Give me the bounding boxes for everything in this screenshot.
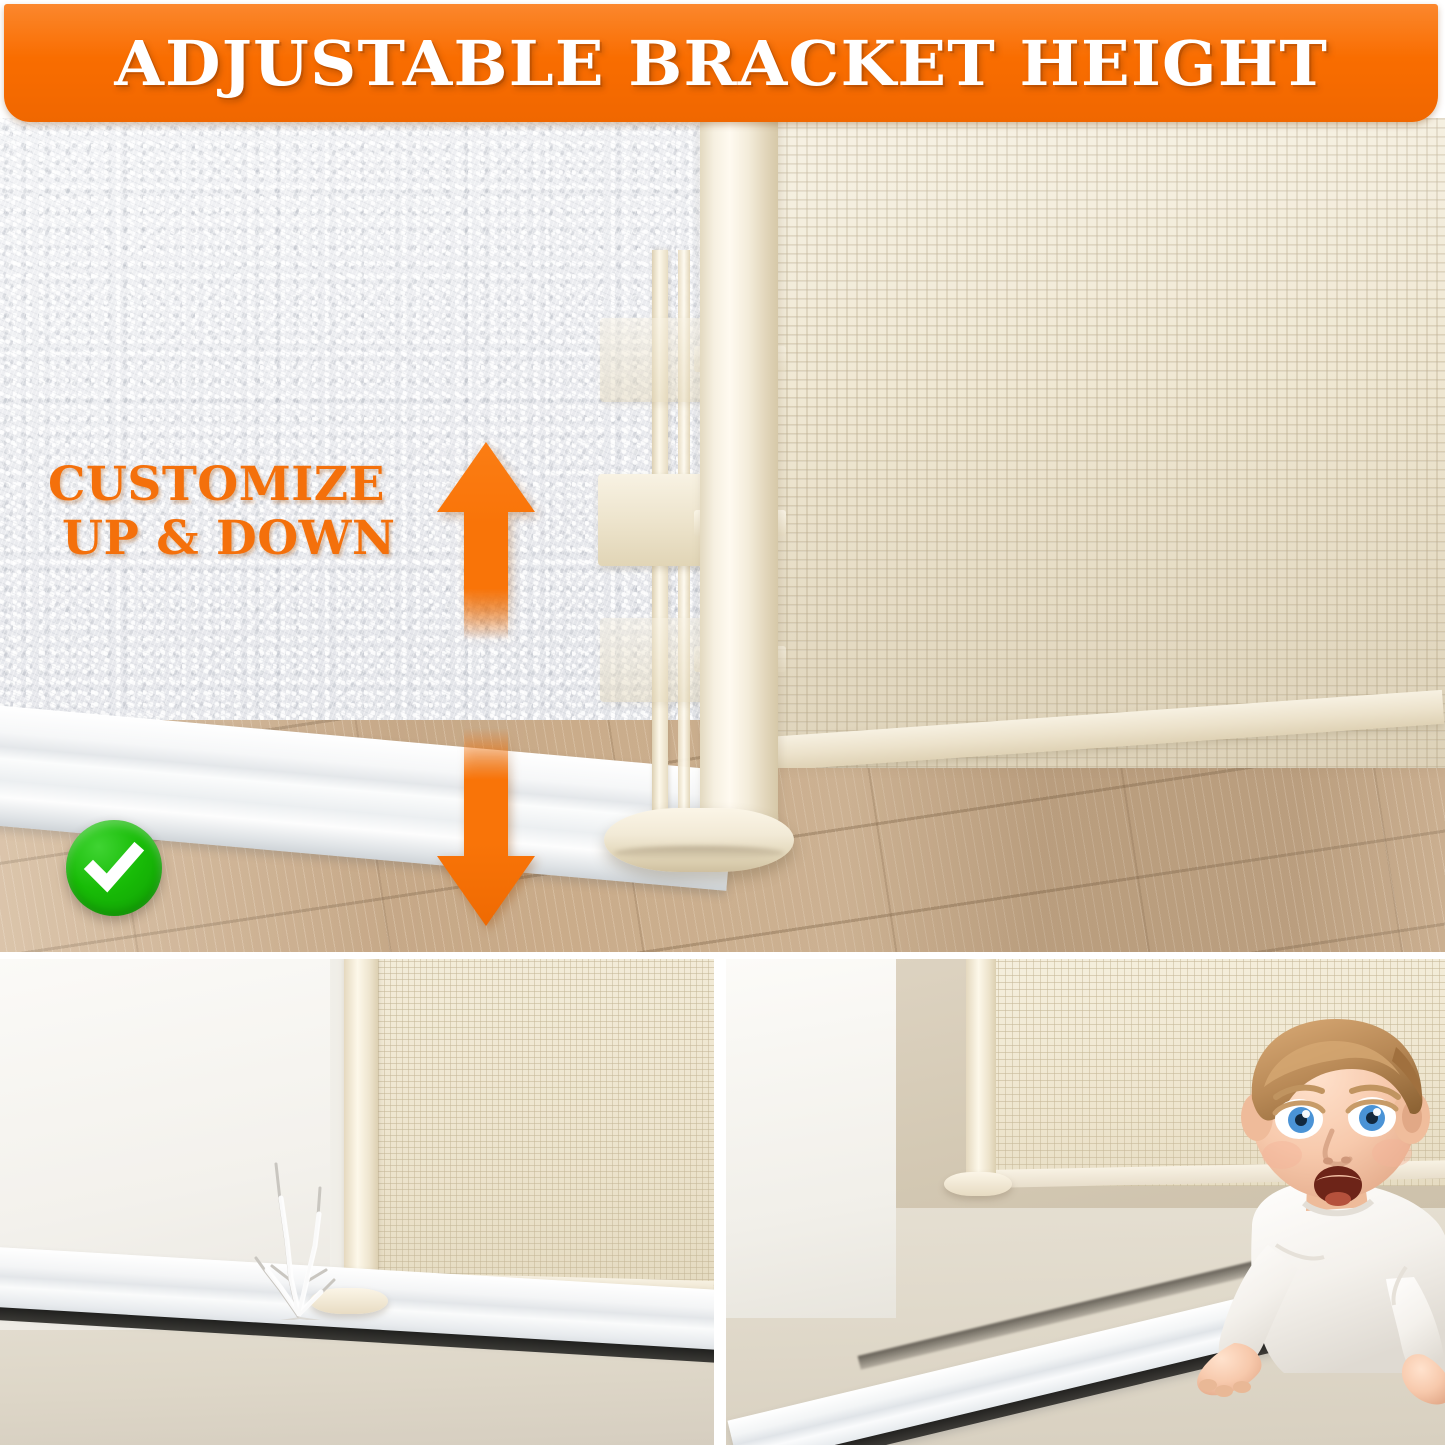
headline-banner: ADJUSTABLE BRACKET HEIGHT [4,4,1438,122]
arrow-up-icon [434,440,538,640]
arrow-down-icon [434,728,538,928]
gate-base-foot [604,808,794,872]
customize-headline-line1: CUSTOMIZE [48,458,448,512]
panel-right-door-panel [726,958,896,1318]
gate-mesh-shading [726,118,1445,768]
panel-left-gate-foot [310,1288,388,1314]
gate-frame-post [700,118,778,830]
panel-wall-damage [0,958,714,1445]
bracket-position-current [598,474,708,566]
banner-title: ADJUSTABLE BRACKET HEIGHT [114,27,1328,100]
crawling-baby [1156,1013,1445,1413]
bracket-position-bottom-ghost [600,618,704,702]
product-infographic: ADJUSTABLE BRACKET HEIGHT [0,0,1445,1445]
bracket-position-top-ghost [600,318,704,402]
hero-photo: CUSTOMIZE UP & DOWN [0,118,1445,954]
gate-foot-shadow [614,846,784,860]
customize-headline-line2: UP & DOWN [48,512,448,566]
panel-gate-gap [726,958,1445,1445]
panel-right-gate-post [966,958,996,1188]
gate-mesh-panel [726,118,1445,768]
check-badge [66,820,162,916]
customize-headline: CUSTOMIZE UP & DOWN [48,458,448,565]
panel-right-gate-foot [944,1172,1012,1196]
panel-seam-vertical [714,955,726,1445]
panel-left-gate-post [344,958,378,1304]
panel-left-gate-mesh [372,958,714,1298]
